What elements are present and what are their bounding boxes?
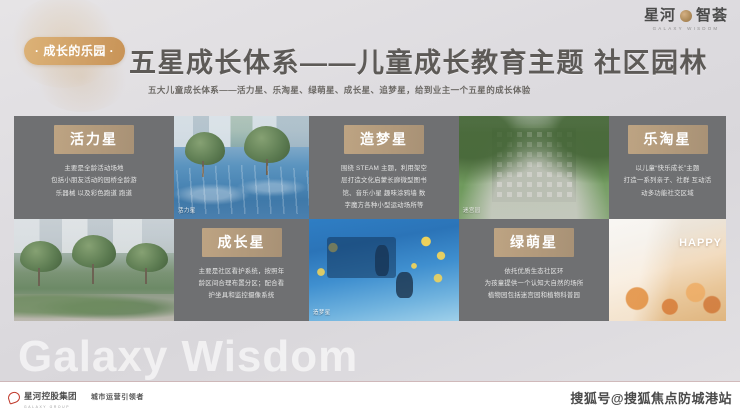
footer-brand-zh: 星河控股集团	[24, 391, 77, 401]
brand-name-left: 星河	[644, 8, 676, 23]
panel-body: 主要是全龄活动场地包括小朋友活动的园桥全龄游乐器械 以及彩色跑道 跑道	[46, 163, 142, 200]
footer-bar: 星河控股集团 GALAXY GROUP 城市运营引领者 搜狐号@搜狐焦点防城港站	[0, 382, 740, 412]
footer-brand-en: GALAXY GROUP	[24, 405, 77, 409]
footer-logo: 星河控股集团 GALAXY GROUP	[8, 386, 77, 409]
panel-title: 活力星	[54, 125, 134, 154]
photo-caption: 迷宫园	[463, 206, 481, 214]
ribbon-logo-icon	[8, 392, 20, 403]
background-watermark: Galaxy Wisdom	[18, 332, 358, 382]
page-title: 五星成长体系——儿童成长教育主题 社区园林	[129, 41, 708, 80]
feature-panel-fun-star: 乐淘星 以儿童“快乐成长”主题打造一系列亲子、社群 互动活动多功能社交区域	[609, 116, 726, 219]
page-subtitle: 五大儿童成长体系——活力星、乐淘星、绿萌星、成长星、追梦星，给到业主一个五星的成…	[148, 84, 531, 96]
feature-collage: 活力星 主要是全龄活动场地包括小朋友活动的园桥全龄游乐器械 以及彩色跑道 跑道 …	[14, 116, 726, 321]
brand-logo-row: 星河 智荟	[644, 8, 728, 23]
panel-title: 乐淘星	[628, 125, 708, 154]
panel-body: 围绕 STEAM 主题，利用架空层打造文化启蒙长廊微型图书馆、音乐小星 趣味涂鸦…	[336, 163, 432, 213]
photo-water-play-plaza: 活力星	[174, 116, 309, 219]
panel-title: 造梦星	[344, 125, 424, 154]
panel-body: 以儿童“快乐成长”主题打造一系列亲子、社群 互动活动多功能社交区域	[619, 163, 717, 200]
photo-hedge-maze-garden: 迷宫园	[459, 116, 609, 219]
circle-seal-icon	[680, 10, 692, 22]
panel-body: 依托优质生态社区环为孩童提供一个认知大自然的场所植物园包括迷宫园和植物科普园	[480, 266, 589, 303]
photo-happy-play-room: HAPPY	[609, 219, 726, 322]
happy-label: HAPPY	[679, 237, 722, 249]
panel-title: 成长星	[202, 228, 282, 257]
feature-panel-green-star: 绿萌星 依托优质生态社区环为孩童提供一个认知大自然的场所植物园包括迷宫园和植物科…	[459, 219, 609, 322]
feature-panel-vitality-star: 活力星 主要是全龄活动场地包括小朋友活动的园桥全龄游乐器械 以及彩色跑道 跑道	[14, 116, 174, 219]
footer-slogan: 城市运营引领者	[91, 392, 144, 402]
feature-panel-growth-star: 成长星 主要是社区看护系统，按照年龄区间合理布置分区；配合看护坐具和监控摄像系统	[174, 219, 309, 322]
brand-name-right: 智荟	[696, 8, 728, 23]
photo-caption: 活力星	[178, 206, 196, 214]
photo-residential-landscape	[14, 219, 174, 322]
section-badge: · 成长的乐园 ·	[24, 37, 125, 65]
panel-body: 主要是社区看护系统，按照年龄区间合理布置分区；配合看护坐具和监控摄像系统	[194, 266, 290, 303]
photo-caption: 造梦星	[313, 308, 331, 316]
footer-logo-text: 星河控股集团 GALAXY GROUP	[24, 386, 77, 409]
feature-panel-dream-star: 造梦星 围绕 STEAM 主题，利用架空层打造文化启蒙长廊微型图书馆、音乐小星 …	[309, 116, 459, 219]
source-watermark: 搜狐号@搜狐焦点防城港站	[570, 388, 732, 407]
brand-logo: 星河 智荟 GALAXY WISDOM	[644, 8, 728, 31]
photo-steam-kids-room: 造梦星	[309, 219, 459, 322]
brand-name-en: GALAXY WISDOM	[653, 26, 720, 31]
panel-title: 绿萌星	[494, 228, 574, 257]
